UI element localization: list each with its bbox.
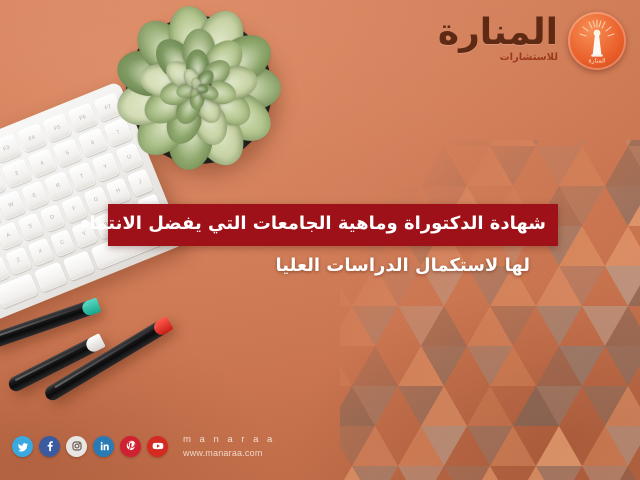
youtube-icon[interactable] xyxy=(147,436,168,457)
keyboard-key: 6 xyxy=(78,128,108,158)
keyboard-key: F4 xyxy=(17,123,47,153)
mosaic-triangle xyxy=(352,140,398,146)
mosaic-triangle xyxy=(352,346,398,386)
mosaic-triangle xyxy=(559,140,605,146)
keyboard-key: T xyxy=(68,162,97,192)
brand-logo[interactable]: المنارة المنارة للاستشارات xyxy=(438,12,626,70)
headline-line-1: شهادة الدكتوراة وماهية الجامعات التي يفض… xyxy=(108,204,558,246)
logo-caption: المنارة xyxy=(588,57,605,64)
mosaic-triangle xyxy=(467,386,513,426)
brand-name: المنارة xyxy=(438,15,558,51)
promo-banner: F1F2F3F4F5F6F7~1234567QWERTYUASDFGHJZXCV… xyxy=(0,0,640,480)
mosaic-triangle xyxy=(421,146,467,186)
keyboard-key: F3 xyxy=(0,133,22,163)
mosaic-triangle xyxy=(352,466,398,480)
keyboard-key: R xyxy=(44,171,73,201)
site-url[interactable]: www.manaraa.com xyxy=(183,448,275,458)
instagram-icon[interactable] xyxy=(66,436,87,457)
brand-subtitle: للاستشارات xyxy=(438,53,558,63)
mosaic-triangle xyxy=(536,426,582,466)
keyboard-key: Y xyxy=(91,152,120,182)
keyboard-key: F5 xyxy=(42,113,72,143)
keyboard-key: H xyxy=(105,177,132,206)
mosaic-triangle xyxy=(398,466,444,480)
mosaic-triangle xyxy=(605,346,640,386)
headline: شهادة الدكتوراة وماهية الجامعات التي يفض… xyxy=(0,204,640,276)
keyboard-key: 5 xyxy=(52,138,82,168)
social-bar: m a n a r a a www.manaraa.com xyxy=(12,435,275,458)
mosaic-triangle xyxy=(444,140,490,146)
mosaic-triangle xyxy=(340,346,352,386)
triangle-mosaic xyxy=(340,140,640,480)
mosaic-triangle xyxy=(490,140,536,146)
site-info: m a n a r a a www.manaraa.com xyxy=(183,435,275,458)
site-name: m a n a r a a xyxy=(183,435,275,446)
mosaic-triangle xyxy=(444,466,490,480)
mosaic-triangle xyxy=(582,466,628,480)
facebook-icon[interactable] xyxy=(39,436,60,457)
keyboard-key: J xyxy=(127,168,154,197)
keyboard-key: F6 xyxy=(67,103,97,133)
keyboard-key: 3 xyxy=(2,159,32,189)
keyboard-key: 4 xyxy=(27,148,57,178)
mosaic-triangle xyxy=(340,140,352,146)
mosaic-triangle xyxy=(536,466,582,480)
headline-line-2: لها لاستكمال الدراسات العليا xyxy=(0,256,530,277)
linkedin-icon[interactable] xyxy=(93,436,114,457)
twitter-icon[interactable] xyxy=(12,436,33,457)
lighthouse-badge-icon: المنارة xyxy=(568,12,626,70)
mosaic-triangle xyxy=(536,306,582,346)
pinterest-icon[interactable] xyxy=(120,436,141,457)
